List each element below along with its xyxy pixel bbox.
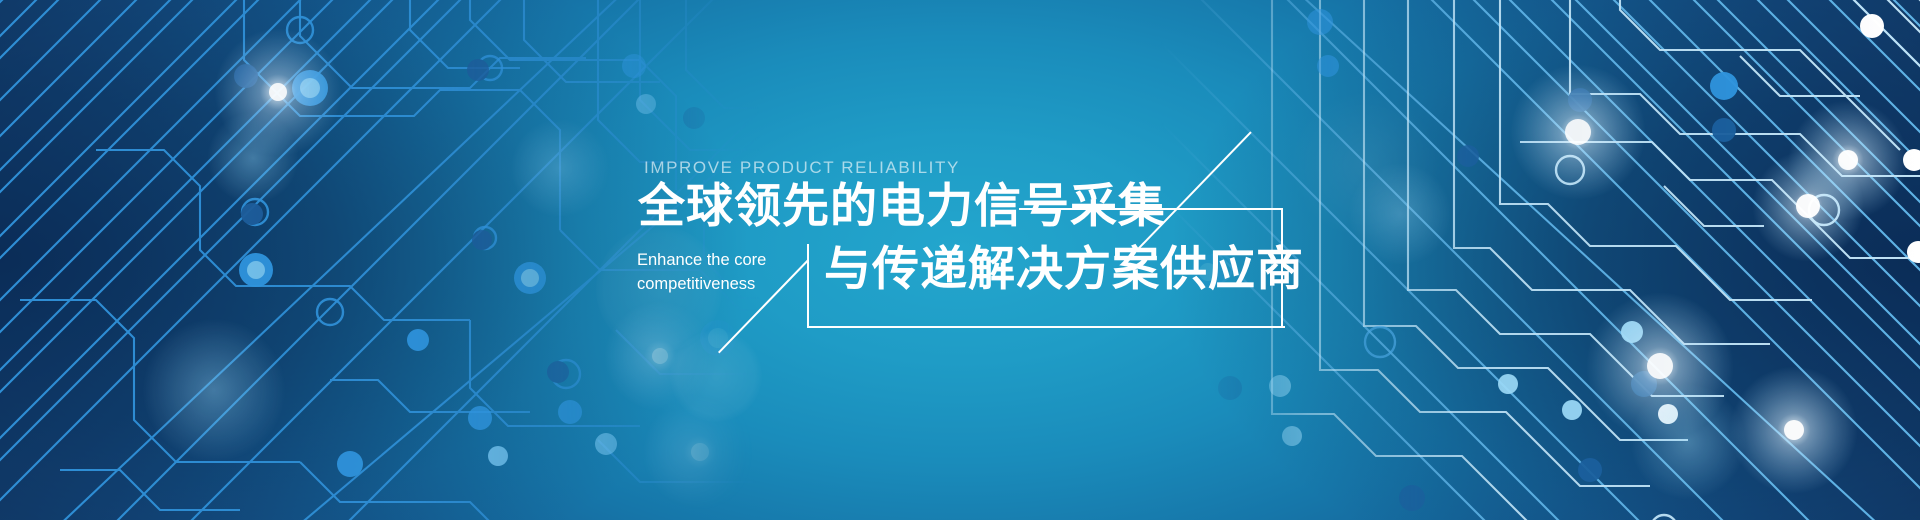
hero-banner: IMPROVE PRODUCT RELIABILITY 全球领先的电力信号采集 … xyxy=(0,0,1920,520)
accent-rectangle-right-edge xyxy=(1281,208,1283,328)
accent-rectangle-bottom-edge xyxy=(807,326,1285,328)
accent-rectangle xyxy=(807,208,1283,328)
circuit-board-pattern-left xyxy=(0,0,760,520)
accent-rectangle-left-edge xyxy=(807,244,809,328)
accent-rectangle-top-edge xyxy=(1019,208,1283,210)
